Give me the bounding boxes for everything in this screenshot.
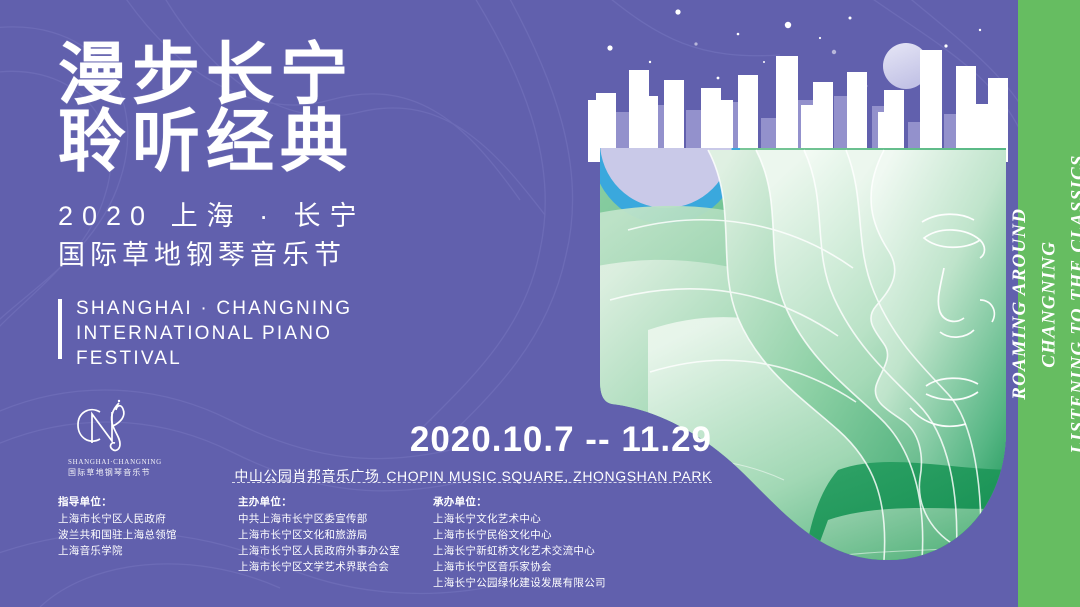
side-banner: ROAMING AROUND CHANGNING LISTENING TO TH… — [1018, 0, 1080, 607]
credit-item: 上海音乐学院 — [58, 544, 238, 560]
piano-key-skyline — [588, 50, 1008, 162]
festival-dates: 2020.10.7 -- 11.29 — [232, 422, 712, 457]
subtitle-year-city: 2020 上海 · 长宁 — [58, 197, 366, 236]
english-subtitle-block: SHANGHAI · CHANGNING INTERNATIONAL PIANO… — [58, 296, 366, 371]
credit-item: 中共上海市长宁区委宣传部 — [238, 512, 433, 528]
credit-item: 波兰共和国驻上海总领馆 — [58, 528, 238, 544]
subtitle-event-name: 国际草地钢琴音乐节 — [58, 236, 366, 275]
title-block: 漫步长宁 聆听经典 2020 上海 · 长宁 国际草地钢琴音乐节 SHANGHA… — [58, 42, 366, 371]
credit-heading: 指导单位： — [58, 495, 238, 511]
credit-item: 上海市长宁区文学艺术界联合会 — [238, 560, 433, 576]
credit-item: 上海市长宁区人民政府外事办公室 — [238, 544, 433, 560]
credit-column-organizer: 主办单位： 中共上海市长宁区委宣传部 上海市长宁区文化和旅游局 上海市长宁区人民… — [238, 495, 433, 592]
schedule-block: 2020.10.7 -- 11.29 中山公园肖邦音乐广场 CHOPIN MUS… — [232, 422, 712, 486]
credit-item: 上海市长宁区音乐家协会 — [433, 560, 663, 576]
venue-row: 中山公园肖邦音乐广场 CHOPIN MUSIC SQUARE, ZHONGSHA… — [232, 466, 712, 486]
credit-heading: 承办单位： — [433, 495, 663, 511]
credit-item: 上海长宁公园绿化建设发展有限公司 — [433, 576, 663, 592]
festival-logo: SHANGHAI·CHANGNING 国际草地钢琴音乐节 — [68, 398, 198, 478]
credit-item: 上海市长宁民俗文化中心 — [433, 528, 663, 544]
cn-monogram-treble-clef-icon — [72, 398, 146, 456]
credit-item: 上海长宁新虹桥文化艺术交流中心 — [433, 544, 663, 560]
logo-caption-en: SHANGHAI·CHANGNING — [68, 458, 198, 466]
credits-block: 指导单位： 上海市长宁区人民政府 波兰共和国驻上海总领馆 上海音乐学院 主办单位… — [58, 495, 663, 592]
vertical-rule — [58, 299, 62, 359]
headline-line-1: 漫步长宁 — [58, 42, 366, 109]
credit-heading: 主办单位： — [238, 495, 433, 511]
credit-column-executor: 承办单位： 上海长宁文化艺术中心 上海市长宁民俗文化中心 上海长宁新虹桥文化艺术… — [433, 495, 663, 592]
headline-line-2: 聆听经典 — [58, 109, 366, 176]
venue-name-cn: 中山公园肖邦音乐广场 — [234, 466, 379, 486]
side-banner-text: ROAMING AROUND CHANGNING LISTENING TO TH… — [1005, 152, 1080, 456]
credit-item: 上海市长宁区人民政府 — [58, 512, 238, 528]
english-subtitle: SHANGHAI · CHANGNING INTERNATIONAL PIANO… — [76, 296, 366, 371]
poster-canvas: 漫步长宁 聆听经典 2020 上海 · 长宁 国际草地钢琴音乐节 SHANGHA… — [0, 0, 1080, 607]
logo-caption-cn: 国际草地钢琴音乐节 — [68, 467, 198, 478]
dashed-divider — [232, 482, 712, 483]
credit-item: 上海长宁文化艺术中心 — [433, 512, 663, 528]
credit-item: 上海市长宁区文化和旅游局 — [238, 528, 433, 544]
credit-column-guidance: 指导单位： 上海市长宁区人民政府 波兰共和国驻上海总领馆 上海音乐学院 — [58, 495, 238, 592]
